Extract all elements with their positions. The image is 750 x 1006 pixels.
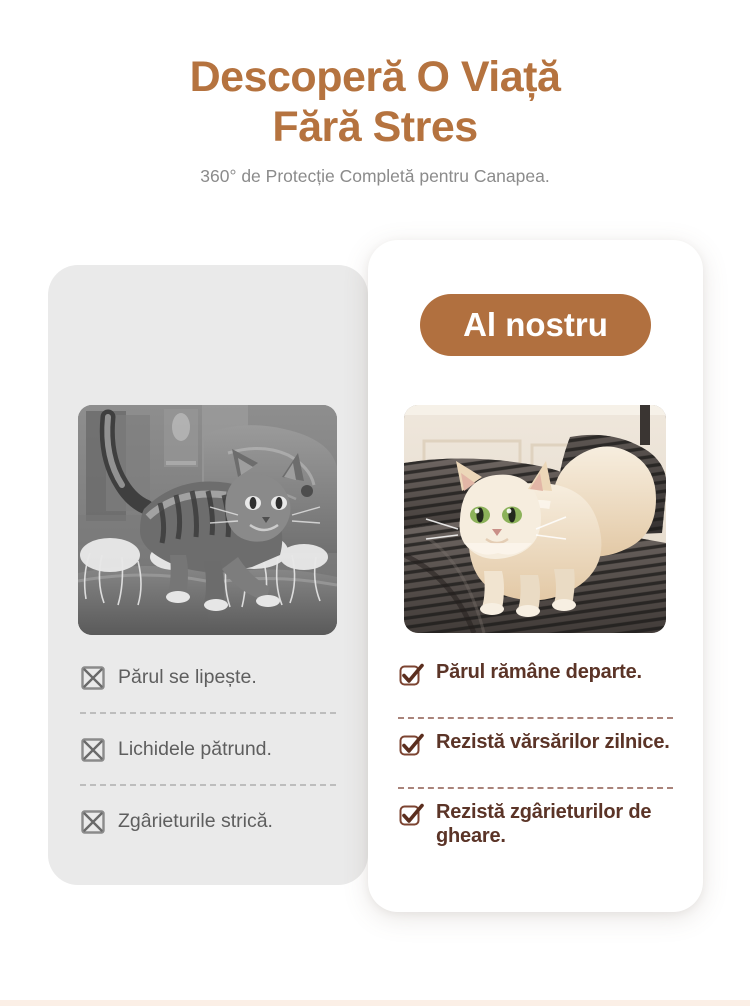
bottom-band — [0, 1000, 750, 1006]
list-item-label: Rezistă vărsărilor zilnice. — [436, 730, 670, 754]
list-item: Lichidele pătrund. — [80, 727, 336, 771]
list-divider — [80, 712, 336, 714]
others-claims-list: Părul se lipește. Lichidele pătrund. — [48, 655, 368, 843]
list-divider — [398, 787, 673, 789]
others-cat-illustration — [78, 405, 337, 635]
x-box-icon — [80, 737, 106, 763]
ours-cat-illustration — [404, 405, 666, 633]
ours-badge: Al nostru — [420, 294, 651, 356]
page-header: Descoperă O Viață Fără Stres 360° de Pro… — [0, 0, 750, 188]
list-item-label: Lichidele pătrund. — [118, 737, 272, 761]
ours-badge-label: Al nostru — [463, 306, 608, 344]
list-item-label: Părul rămâne departe. — [436, 660, 642, 684]
x-box-icon — [80, 665, 106, 691]
list-item: Părul se lipește. — [80, 655, 336, 699]
list-divider — [398, 717, 673, 719]
list-item-label: Zgârieturile strică. — [118, 809, 273, 833]
page-title-line-2: Fără Stres — [30, 102, 720, 152]
check-box-icon — [398, 662, 424, 688]
list-item-label: Rezistă zgârieturilor de gheare. — [436, 800, 673, 848]
page-title-line-1: Descoperă O Viață — [30, 52, 720, 102]
others-image — [78, 405, 337, 635]
ours-image — [404, 405, 666, 633]
list-item: Rezistă zgârieturilor de gheare. — [398, 800, 673, 848]
check-box-icon — [398, 802, 424, 828]
list-divider — [80, 784, 336, 786]
others-card: Părul se lipește. Lichidele pătrund. — [48, 265, 368, 885]
list-item: Zgârieturile strică. — [80, 799, 336, 843]
list-item: Rezistă vărsărilor zilnice. — [398, 730, 673, 776]
x-box-icon — [80, 809, 106, 835]
ours-claims-list: Părul rămâne departe. Rezistă vărsărilor… — [368, 660, 703, 848]
list-item: Părul rămâne departe. — [398, 660, 673, 706]
page-subtitle: 360° de Protecție Completă pentru Canape… — [0, 164, 750, 188]
page-title: Descoperă O Viață Fără Stres — [0, 52, 750, 152]
check-box-icon — [398, 732, 424, 758]
list-item-label: Părul se lipește. — [118, 665, 257, 689]
ours-card: Al nostru — [368, 240, 703, 912]
